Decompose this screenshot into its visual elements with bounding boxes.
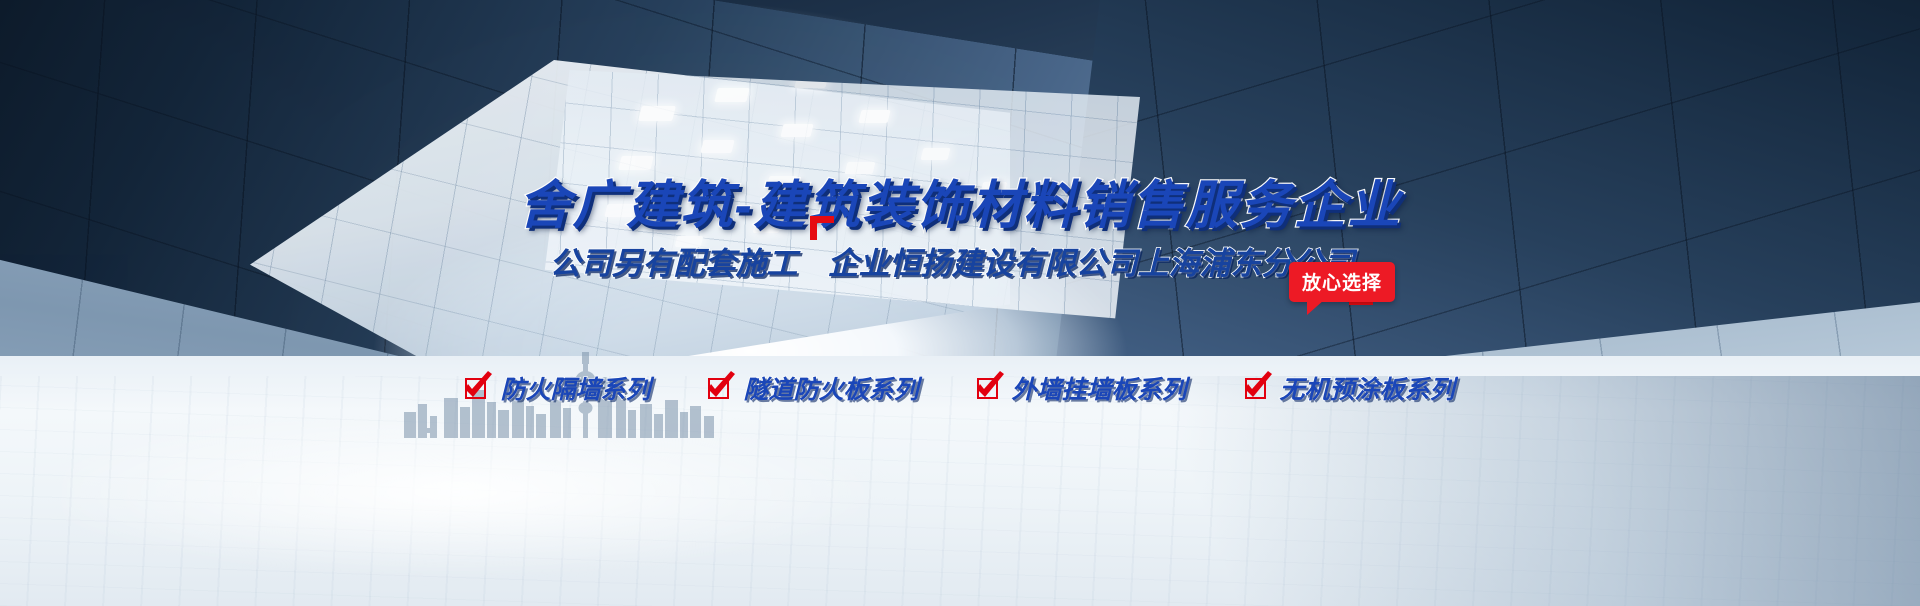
list-item[interactable]: 无机预涂板系列	[1245, 370, 1455, 406]
list-item[interactable]: 防火隔墙系列	[465, 370, 650, 406]
subtitle-row: 公司另有配套施工 企业恒扬建设有限公司上海浦东分公司	[0, 238, 1920, 283]
list-item[interactable]: 外墙挂墙板系列	[977, 370, 1187, 406]
list-item-label: 无机预涂板系列	[1280, 370, 1455, 406]
floor-highlight	[60, 420, 1160, 600]
list-item-label: 防火隔墙系列	[500, 370, 650, 406]
ceiling-light-12	[921, 148, 951, 160]
red-checkbox-icon[interactable]	[465, 378, 486, 399]
page-title: 舍广建筑-建筑装饰材料销售服务企业	[0, 163, 1920, 238]
bracket-top-left-icon	[810, 216, 834, 240]
ceiling-light-2	[714, 88, 749, 102]
list-item[interactable]: 隧道防火板系列	[708, 370, 918, 406]
subtitle-left: 公司另有配套施工	[550, 238, 798, 283]
red-checkbox-icon[interactable]	[1245, 378, 1266, 399]
list-item-label: 外墙挂墙板系列	[1012, 370, 1187, 406]
status-badge[interactable]: 放心选择	[1289, 262, 1395, 302]
red-checkbox-icon[interactable]	[708, 378, 729, 399]
subtitle-right: 企业恒扬建设有限公司上海浦东分公司	[828, 238, 1355, 283]
bracketed-company-name: 企业恒扬建设有限公司上海浦东分公司	[812, 238, 1371, 283]
promo-banner: 舍广建筑-建筑装饰材料销售服务企业 公司另有配套施工 企业恒扬建设有限公司上海浦…	[0, 0, 1920, 606]
red-checkbox-icon[interactable]	[977, 378, 998, 399]
ceiling-light-7	[858, 110, 890, 123]
list-item-label: 隧道防火板系列	[743, 370, 918, 406]
ceiling-light-5	[700, 140, 734, 153]
ceiling-light-1	[638, 106, 676, 121]
ceiling-light-6	[780, 124, 813, 137]
feature-list: 防火隔墙系列 隧道防火板系列 外墙挂墙板系列	[0, 370, 1920, 406]
